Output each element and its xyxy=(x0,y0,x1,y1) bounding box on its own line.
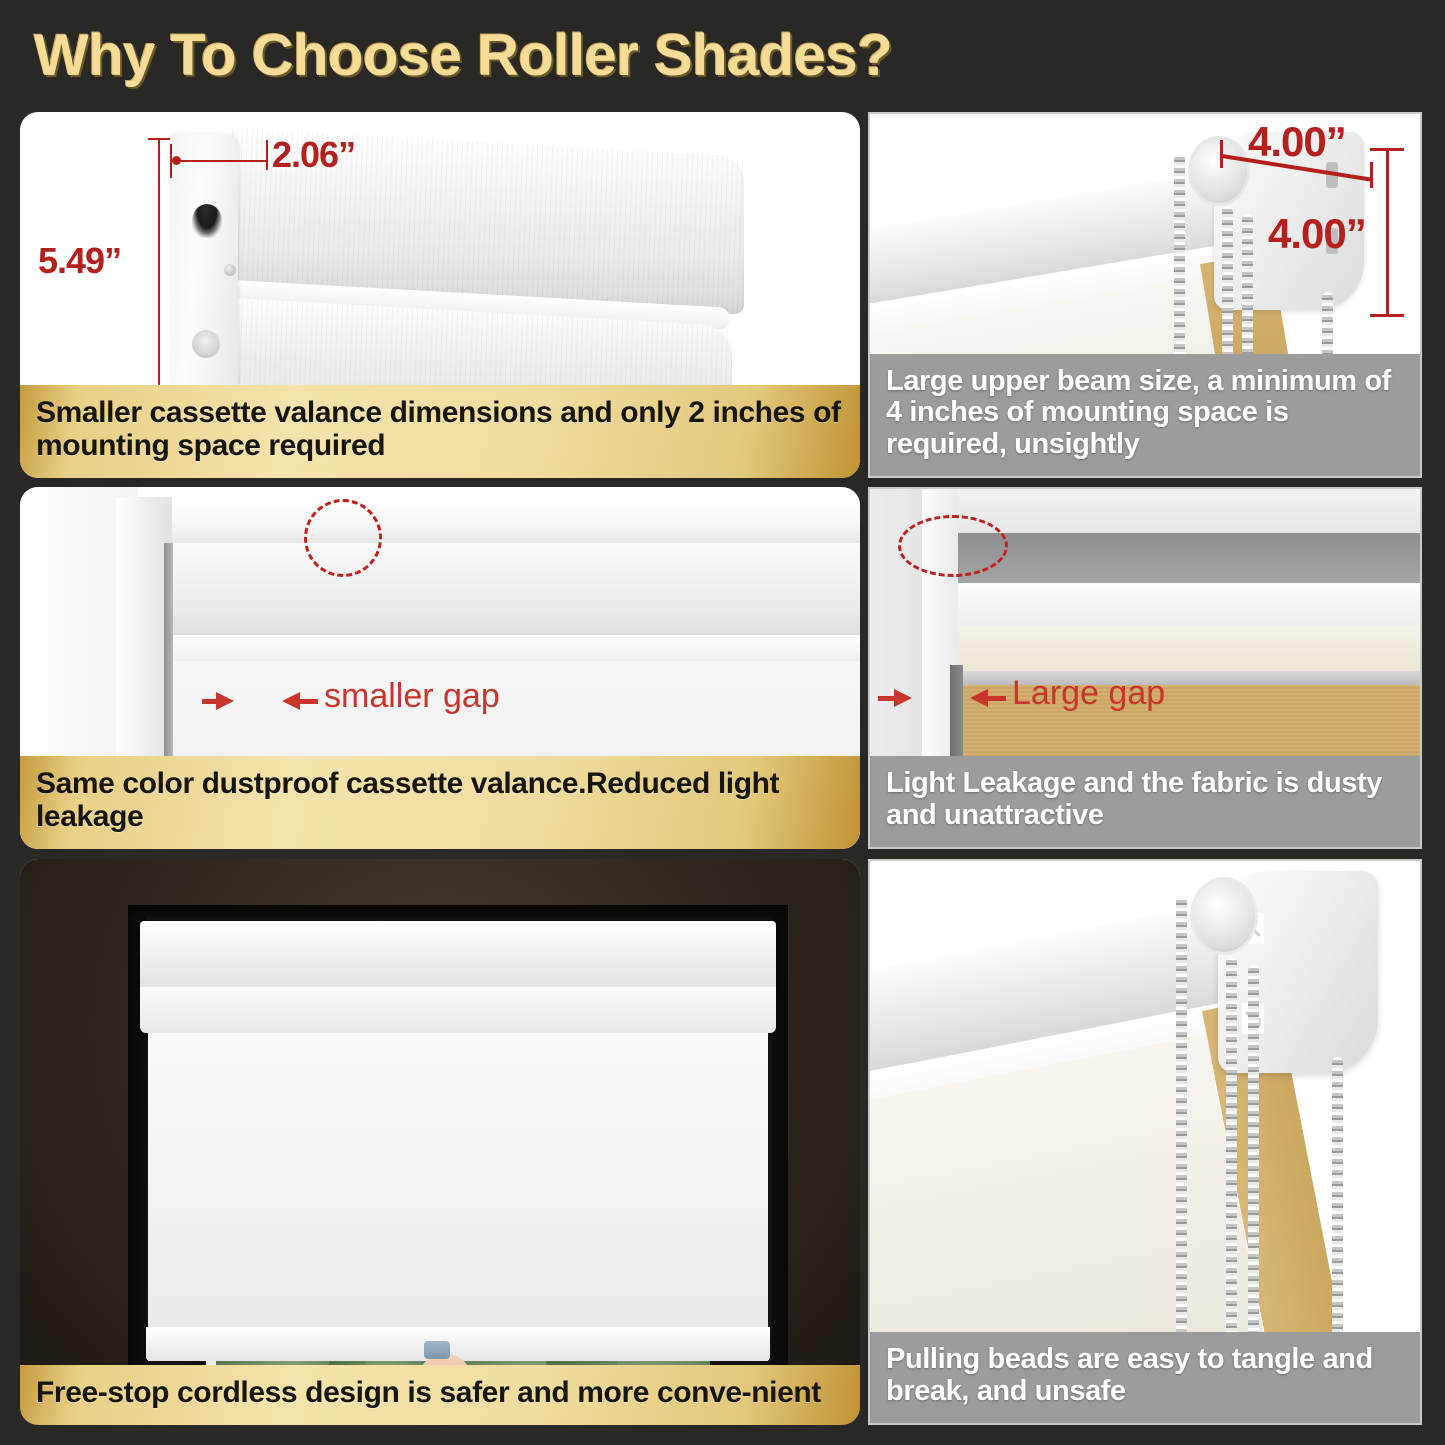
shade-pull-handle[interactable] xyxy=(424,1341,450,1359)
dim-dot-width xyxy=(172,156,181,165)
dim-cap-top xyxy=(148,138,170,140)
width-dimension-label: 2.06” xyxy=(272,134,355,176)
gap-arrow-left-icon xyxy=(970,689,988,707)
panel-dustproof-cassette: smaller gap Same color dustproof cassett… xyxy=(20,487,860,849)
height-dimension-label: 4.00” xyxy=(1268,210,1366,258)
gap-callout-label: Large gap xyxy=(1012,674,1165,713)
comparison-grid: 2.06” 5.49” Smaller cassette valance dim… xyxy=(0,0,1445,1445)
dim-cap-top xyxy=(1370,148,1404,151)
gap-arrow-left-icon xyxy=(282,692,300,710)
dim-cap-bottom xyxy=(1370,314,1404,317)
panel-caption: Light Leakage and the fabric is dusty an… xyxy=(870,756,1420,847)
dim-line-height xyxy=(1386,148,1389,316)
dim-line-width xyxy=(172,160,268,162)
bead-chain[interactable] xyxy=(1248,965,1259,1377)
panel-caption: Smaller cassette valance dimensions and … xyxy=(20,385,860,478)
panel-caption: Same color dustproof cassette valance.Re… xyxy=(20,756,860,849)
panel-caption: Pulling beads are easy to tangle and bre… xyxy=(870,1332,1420,1423)
gap-arrow-tail xyxy=(202,699,220,704)
dim-line-height xyxy=(158,138,160,406)
panel-pulling-beads: ↖ ↘ Pulling beads are easy to tangle and… xyxy=(868,859,1422,1425)
cordless-window-scene xyxy=(20,859,860,1425)
bead-chain[interactable] xyxy=(1226,957,1237,1377)
bead-chain[interactable] xyxy=(1176,897,1187,1377)
dim-tick-right xyxy=(266,140,268,170)
gap-callout-label: smaller gap xyxy=(324,677,500,716)
panel-cordless-design: Free-stop cordless design is safer and m… xyxy=(20,859,860,1425)
panel-large-upper-beam: 4.00” 4.00” Large upper beam size, a min… xyxy=(868,112,1422,478)
panel-light-leakage: Large gap Light Leakage and the fabric i… xyxy=(868,487,1422,849)
panel-caption: Large upper beam size, a minimum of 4 in… xyxy=(870,354,1420,476)
height-dimension-label: 5.49” xyxy=(38,240,121,282)
highlight-ring-icon xyxy=(304,499,382,577)
highlight-ring-icon xyxy=(898,515,1008,577)
gap-arrow-tail xyxy=(300,699,318,704)
dim-tick-right xyxy=(1370,162,1373,188)
bead-chain[interactable] xyxy=(1332,1057,1343,1373)
dim-tick-left xyxy=(1220,140,1223,168)
panel-cassette-dimensions: 2.06” 5.49” Smaller cassette valance dim… xyxy=(20,112,860,478)
gap-arrow-tail xyxy=(988,696,1006,701)
gap-arrow-right-icon xyxy=(894,689,912,707)
chain-pulley xyxy=(1190,877,1258,955)
width-dimension-label: 4.00” xyxy=(1248,118,1346,166)
chain-pulley xyxy=(1188,136,1250,206)
gap-arrow-tail xyxy=(878,696,896,701)
panel-caption: Free-stop cordless design is safer and m… xyxy=(20,1365,860,1425)
